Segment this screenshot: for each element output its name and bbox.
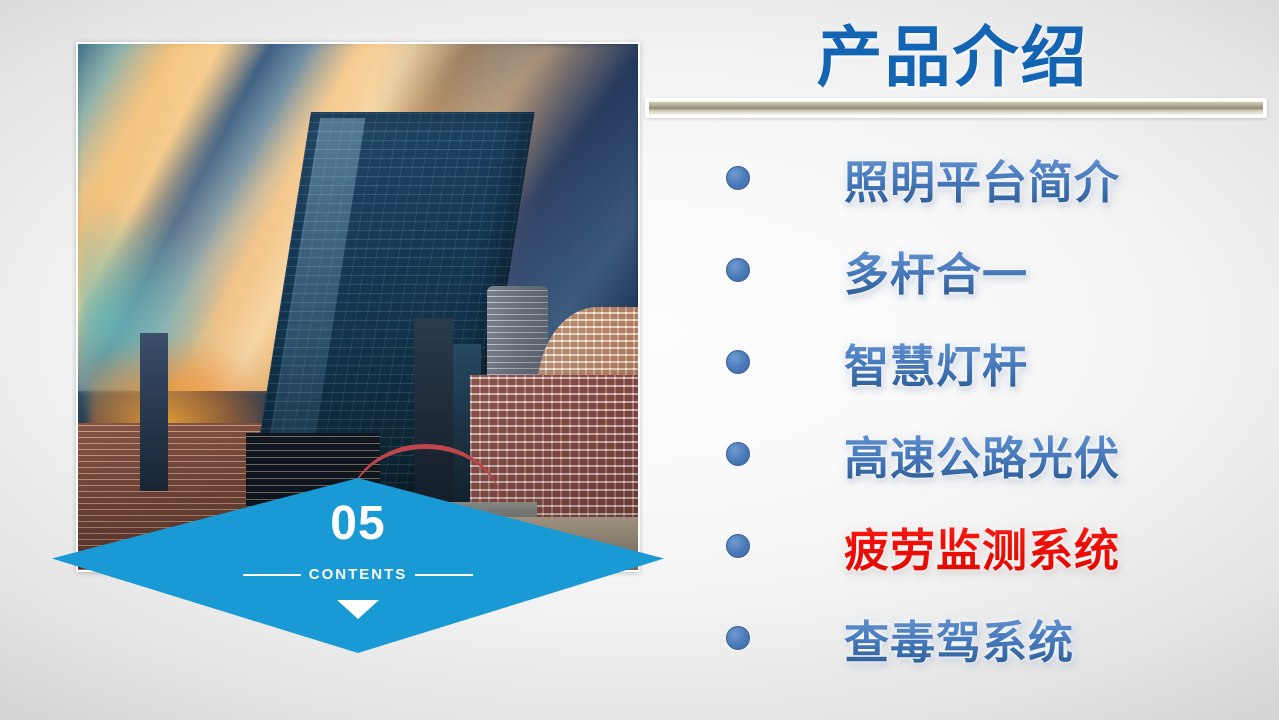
list-item[interactable]: 照明平台简介 <box>640 132 1279 224</box>
list-item-active[interactable]: 疲劳监测系统 <box>640 500 1279 592</box>
bullet-dot-icon <box>726 534 750 558</box>
agenda-list: 照明平台简介 多杆合一 智慧灯杆 高速公路光伏 疲劳监测系统 查毒驾系统 <box>640 132 1279 684</box>
content-pane: 产品介绍 照明平台简介 多杆合一 智慧灯杆 高速公路光伏 疲劳监测系统 查毒驾系… <box>640 0 1279 720</box>
bullet-dot-icon <box>726 626 750 650</box>
roadway-strip <box>425 517 638 570</box>
list-item[interactable]: 智慧灯杆 <box>640 316 1279 408</box>
left-building-block <box>78 423 268 570</box>
list-item-label: 多杆合一 <box>844 238 1028 303</box>
list-item[interactable]: 高速公路光伏 <box>640 408 1279 500</box>
title-divider <box>645 98 1267 118</box>
list-item-label: 高速公路光伏 <box>844 422 1120 487</box>
divider-bar-inner <box>649 101 1263 115</box>
list-item[interactable]: 查毒驾系统 <box>640 592 1279 684</box>
bullet-dot-icon <box>726 350 750 374</box>
cityscape-photo-frame <box>76 42 640 572</box>
left-slim-tower <box>140 333 168 491</box>
bullet-dot-icon <box>726 166 750 190</box>
rule-right-icon <box>415 574 473 576</box>
list-item[interactable]: 多杆合一 <box>640 224 1279 316</box>
page-title: 产品介绍 <box>640 4 1265 100</box>
list-item-label: 疲劳监测系统 <box>844 514 1120 579</box>
list-item-label: 智慧灯杆 <box>844 330 1028 395</box>
caret-down-icon <box>337 600 379 619</box>
bullet-dot-icon <box>726 258 750 282</box>
list-item-label: 照明平台简介 <box>844 146 1120 211</box>
bullet-dot-icon <box>726 442 750 466</box>
rule-left-icon <box>243 574 301 576</box>
list-item-label: 查毒驾系统 <box>844 606 1074 671</box>
cityscape-photo <box>78 44 638 570</box>
